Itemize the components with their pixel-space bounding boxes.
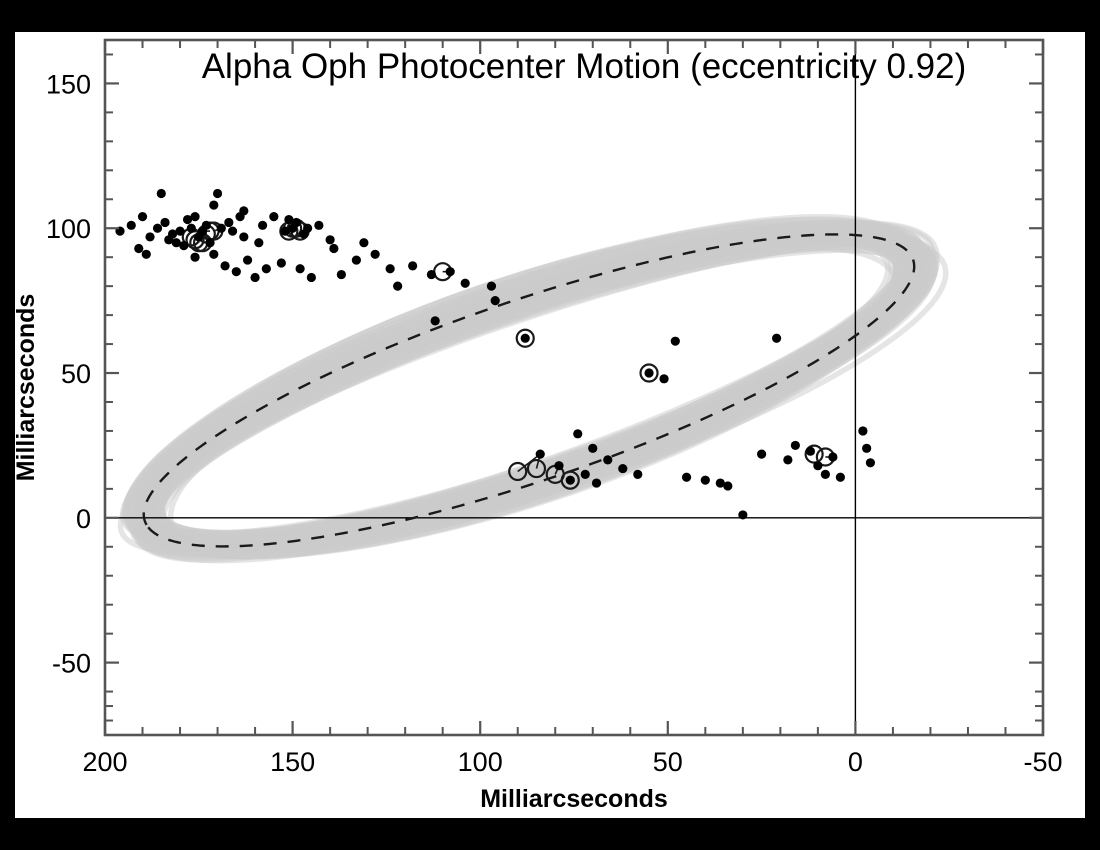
observed-position-marker — [716, 478, 725, 487]
observed-position-marker — [633, 470, 642, 479]
observed-position-marker — [187, 224, 196, 233]
observed-position-marker — [554, 461, 563, 470]
observed-position-marker — [153, 224, 162, 233]
observed-position-marker — [603, 455, 612, 464]
observed-position-marker — [224, 218, 233, 227]
observed-position-marker — [352, 255, 361, 264]
observed-position-marker — [228, 227, 237, 236]
observed-position-marker — [269, 212, 278, 221]
axis-ticks — [105, 40, 1043, 735]
observed-position-marker — [393, 282, 402, 291]
observed-position-marker — [408, 261, 417, 270]
observed-position-marker — [427, 270, 436, 279]
observed-position-marker — [190, 253, 199, 262]
observed-position-marker — [386, 264, 395, 273]
x-tick-label: 150 — [270, 747, 315, 777]
observed-position-marker — [359, 238, 368, 247]
observed-position-marker — [329, 244, 338, 253]
observed-position-marker — [213, 189, 222, 198]
observed-position-marker — [138, 212, 147, 221]
observed-position-marker — [254, 238, 263, 247]
observed-position-marker — [671, 337, 680, 346]
observed-position-marker — [145, 232, 154, 241]
observed-position-marker — [588, 444, 597, 453]
observed-position-marker — [190, 212, 199, 221]
observed-position-marker — [772, 334, 781, 343]
observed-position-marker — [618, 464, 627, 473]
observed-position-marker — [446, 267, 455, 276]
x-tick-label: 100 — [458, 747, 503, 777]
observed-position-marker — [202, 221, 211, 230]
observed-position-marker — [813, 461, 822, 470]
observed-position-marker — [566, 476, 575, 485]
observed-position-marker — [573, 429, 582, 438]
reference-lines — [105, 40, 1043, 735]
y-tick-label: -50 — [52, 649, 91, 679]
observed-position-marker — [461, 279, 470, 288]
y-tick-label: 0 — [76, 504, 91, 534]
observation-connectors — [191, 228, 833, 480]
x-tick-label: 0 — [848, 747, 863, 777]
x-axis-label: Milliarcseconds — [480, 785, 668, 813]
observed-position-marker — [806, 447, 815, 456]
observed-position-marker — [258, 221, 267, 230]
observed-position-marker — [326, 235, 335, 244]
observed-position-marker — [220, 261, 229, 270]
observed-position-marker — [217, 224, 226, 233]
observed-position-marker — [239, 206, 248, 215]
y-tick-label: 50 — [61, 359, 91, 389]
observed-position-marker — [157, 189, 166, 198]
y-tick-label: 100 — [46, 214, 91, 244]
observed-position-marker — [307, 273, 316, 282]
observed-position-marker — [239, 232, 248, 241]
observed-position-marker — [371, 250, 380, 259]
observed-position-marker — [491, 296, 500, 305]
axes-frame — [105, 40, 1043, 735]
observed-position-marker — [862, 444, 871, 453]
observed-position-marker — [303, 224, 312, 233]
figure-text: Alpha Oph Photocenter Motion (eccentrici… — [12, 47, 966, 813]
observed-position-marker — [783, 455, 792, 464]
observed-position-marker — [836, 473, 845, 482]
observed-position-marker — [160, 218, 169, 227]
observed-position-marker — [791, 441, 800, 450]
observed-position-marker — [250, 273, 259, 282]
chart-svg: 200150100500-50150100500-50Alpha Oph Pho… — [0, 0, 1100, 850]
observed-position-marker — [866, 458, 875, 467]
observed-position-marker — [262, 264, 271, 273]
y-axis-label: Milliarcseconds — [12, 294, 40, 482]
observed-position-marker — [277, 258, 286, 267]
observed-position-marker — [284, 215, 293, 224]
observed-position-marker — [521, 334, 530, 343]
observed-position-marker — [127, 221, 136, 230]
observed-position-marker — [821, 470, 830, 479]
observed-position-marker — [858, 426, 867, 435]
observed-position-marker — [179, 241, 188, 250]
observed-position-marker — [828, 452, 837, 461]
observed-position-marker — [581, 470, 590, 479]
observed-position-marker — [175, 227, 184, 236]
observed-position-marker — [243, 255, 252, 264]
observed-position-marker — [209, 200, 218, 209]
observed-position-marker — [757, 450, 766, 459]
observed-position-marker — [142, 250, 151, 259]
observed-position-marker — [592, 478, 601, 487]
observed-position-marker — [659, 374, 668, 383]
observed-position-marker — [487, 282, 496, 291]
observed-position-marker — [296, 264, 305, 273]
observed-position-marker — [134, 244, 143, 253]
observed-position-marker — [337, 270, 346, 279]
observed-position-marker — [644, 368, 653, 377]
observed-position-marker — [209, 250, 218, 259]
observed-position-marker — [738, 510, 747, 519]
observed-position-marker — [205, 238, 214, 247]
observed-position-marker — [701, 476, 710, 485]
observed-position-marker — [232, 267, 241, 276]
observed-position-marker — [536, 450, 545, 459]
monte-carlo-orbit-band — [120, 217, 945, 561]
x-tick-label: 50 — [653, 747, 683, 777]
observed-position-marker — [682, 473, 691, 482]
figure-root: 200150100500-50150100500-50Alpha Oph Pho… — [0, 0, 1100, 850]
x-tick-label: -50 — [1023, 747, 1062, 777]
observed-position-marker — [314, 221, 323, 230]
x-tick-label: 200 — [82, 747, 127, 777]
chart-title: Alpha Oph Photocenter Motion (eccentrici… — [202, 47, 967, 86]
observed-position-marker — [431, 316, 440, 325]
y-tick-label: 150 — [46, 69, 91, 99]
